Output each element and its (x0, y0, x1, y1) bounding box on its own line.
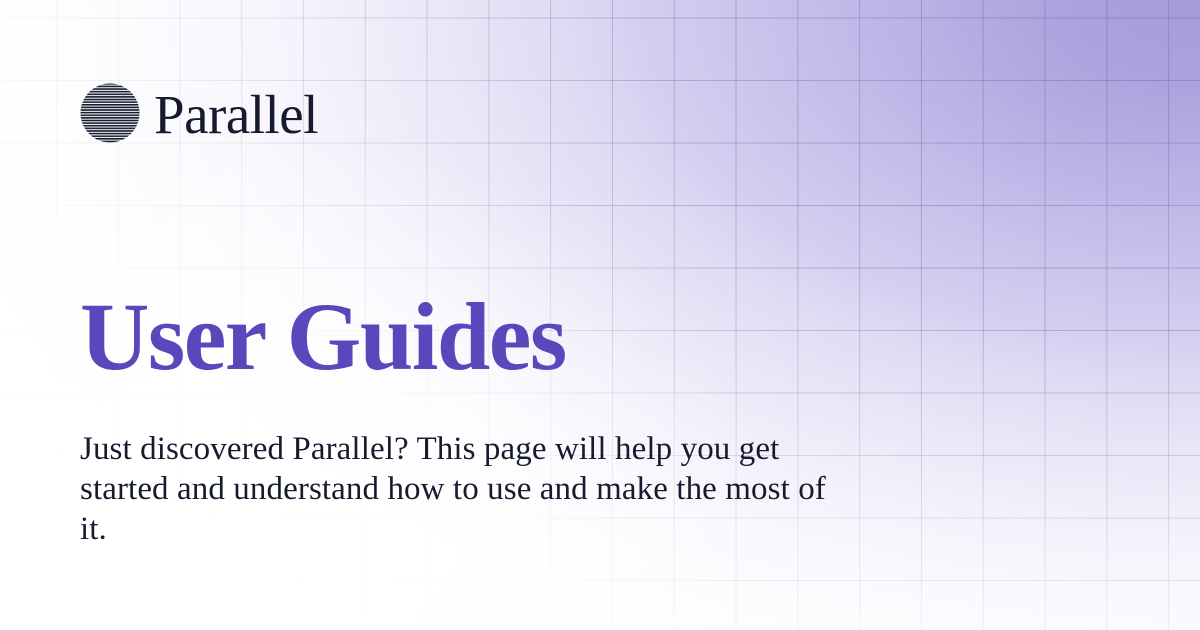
og-card-canvas: Parallel User Guides Just discovered Par… (0, 0, 1200, 630)
card-content: Parallel User Guides Just discovered Par… (0, 0, 1200, 630)
page-title: User Guides (80, 289, 566, 385)
page-subtitle: Just discovered Parallel? This page will… (80, 429, 860, 549)
brand-wordmark: Parallel (154, 87, 318, 142)
brand-lockup[interactable]: Parallel (80, 83, 318, 143)
parallel-striped-sphere-icon (80, 83, 140, 143)
